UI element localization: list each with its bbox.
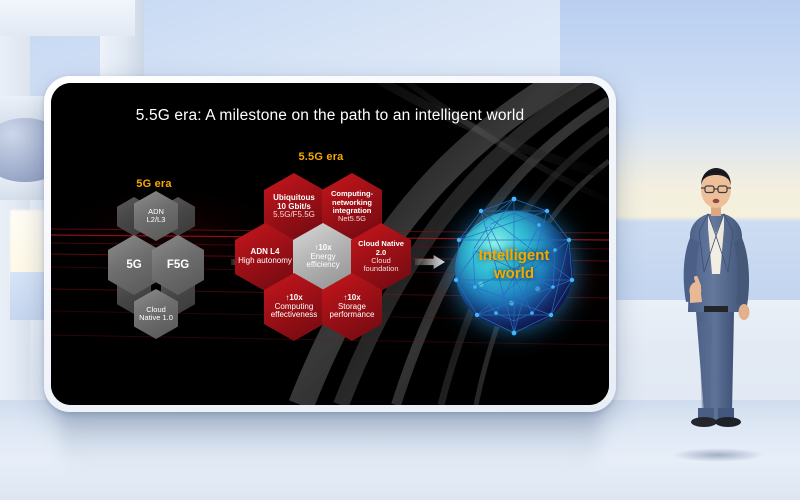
era-label-55g: 5.5G era [266,151,376,163]
hex-line: 5G [123,257,144,274]
hex-line: Ubiquitous [273,193,315,202]
hex-line: Cloud foundation [363,256,398,273]
presenter-figure [668,162,764,462]
studio-ceiling-beam [0,0,135,36]
globe-label-line1: Intelligent [479,247,550,264]
hex-line: 5.5G/F5.5G [273,210,315,219]
intelligent-world-label: Intelligent world [439,247,589,282]
studio-floor-reflection [60,404,600,474]
era-label-5g: 5G era [109,178,199,190]
presentation-display: 5.5G era: A milestone on the path to an … [44,76,616,412]
hex-line: Net5.5G [338,214,366,223]
hex-line: Cloud Native 2.0 [358,239,404,256]
hex-line: effectiveness [271,310,318,319]
slide-title: 5.5G era: A milestone on the path to an … [51,107,609,125]
hex-line: L2/L3 [147,215,166,224]
hex-line: Storage [338,302,366,311]
hex-line: ↑10x [285,293,302,302]
hex-line: ↑10x [343,293,360,302]
hex-line: ADN L4 [251,247,280,256]
globe-label-line2: world [494,265,534,282]
intelligent-world-globe: Intelligent world [439,195,589,345]
presenter-illustration [668,162,764,462]
hex-line: ↑10x [314,243,331,252]
hex-line: F5G [164,257,192,274]
hex-line: Computing [275,302,314,311]
hex-line: Native 1.0 [139,313,173,322]
hex-line: Energy efficiency [306,252,339,270]
hex-line: High autonomy [238,256,292,265]
screenshot-stage: 5.5G era: A milestone on the path to an … [0,0,800,500]
slide-screen: 5.5G era: A milestone on the path to an … [51,83,609,405]
presenter-shadow [672,448,764,462]
hex-line: performance [330,310,375,319]
